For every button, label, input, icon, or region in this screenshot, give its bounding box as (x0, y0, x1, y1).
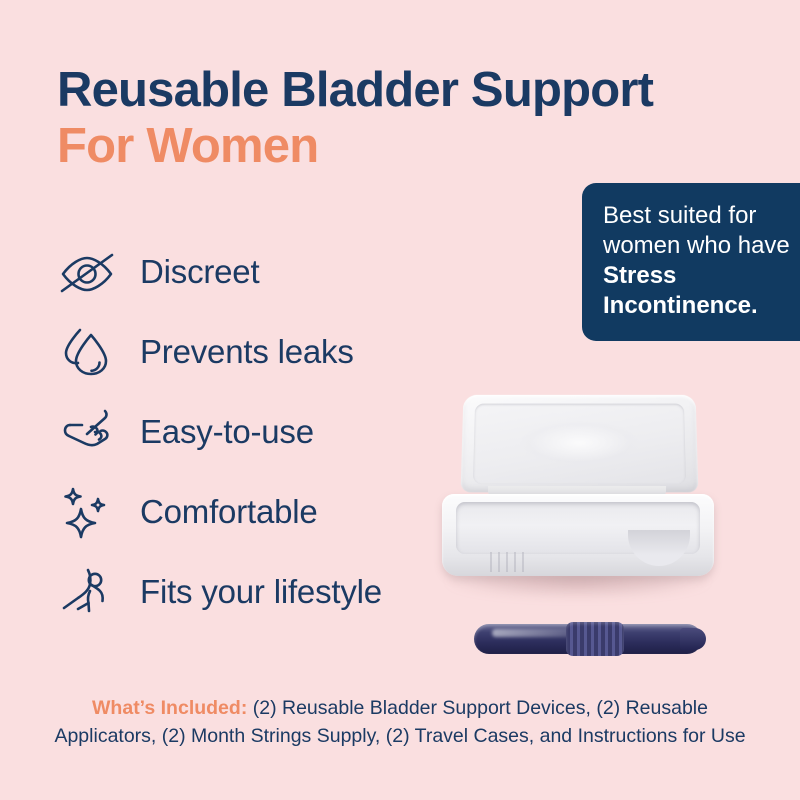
list-item: Fits your lifestyle (56, 552, 382, 632)
list-item: Prevents leaks (56, 312, 382, 392)
travel-case-lid (461, 395, 699, 492)
list-item: Discreet (56, 232, 382, 312)
title-line-secondary: For Women (57, 118, 653, 174)
applicator-device (474, 622, 702, 656)
list-item-label: Comfortable (140, 493, 318, 531)
product-image (424, 378, 730, 616)
status-badge: Best suited for women who have Stress In… (582, 183, 800, 341)
whats-included-text: What’s Included: (2) Reusable Bladder Su… (40, 694, 760, 750)
travel-case-lid-inner (473, 404, 686, 485)
pointing-hand-icon (56, 401, 118, 463)
title-line-primary: Reusable Bladder Support (57, 62, 653, 118)
applicator-grip (566, 622, 624, 656)
list-item-label: Discreet (140, 253, 259, 291)
travel-case-lid-emboss (520, 421, 639, 465)
travel-case-base (442, 494, 714, 576)
list-item: Comfortable (56, 472, 382, 552)
water-drops-icon (56, 321, 118, 383)
badge-text: Best suited for women who have Stress In… (603, 201, 796, 321)
list-item-label: Easy-to-use (140, 413, 314, 451)
badge-text-emphasis: Stress Incontinence. (603, 262, 758, 319)
eye-off-icon (56, 241, 118, 303)
applicator-tip (680, 628, 706, 650)
list-item: Easy-to-use (56, 392, 382, 472)
badge-text-regular: Best suited for women who have (603, 202, 790, 259)
feature-list: Discreet Prevents leaks (56, 232, 382, 632)
travel-case-notch (628, 530, 690, 566)
sparkles-icon (56, 481, 118, 543)
travel-case-strings (490, 552, 524, 572)
list-item-label: Prevents leaks (140, 333, 354, 371)
active-person-icon (56, 561, 118, 623)
list-item-label: Fits your lifestyle (140, 573, 382, 611)
page-title: Reusable Bladder Support For Women (57, 62, 653, 174)
product-infographic: Reusable Bladder Support For Women Best … (0, 0, 800, 800)
whats-included-label: What’s Included: (92, 697, 247, 719)
